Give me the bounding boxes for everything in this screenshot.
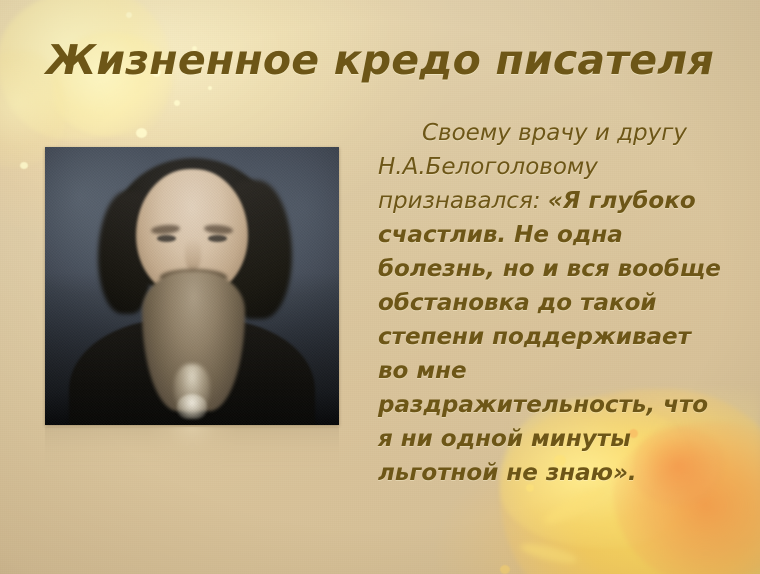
portrait-image [45,147,339,425]
portrait-frame [45,147,339,425]
slide: Жизненное кредо писателя Своему врачу и … [0,0,760,574]
page-title: Жизненное кредо писателя [0,36,760,84]
portrait-canvas-grain [45,147,339,425]
quote-block: Своему врачу и другу Н.А.Белоголовому пр… [378,116,723,490]
quote-quoted-text: «Я глубоко счастлив. Не одна болезнь, но… [378,188,721,486]
